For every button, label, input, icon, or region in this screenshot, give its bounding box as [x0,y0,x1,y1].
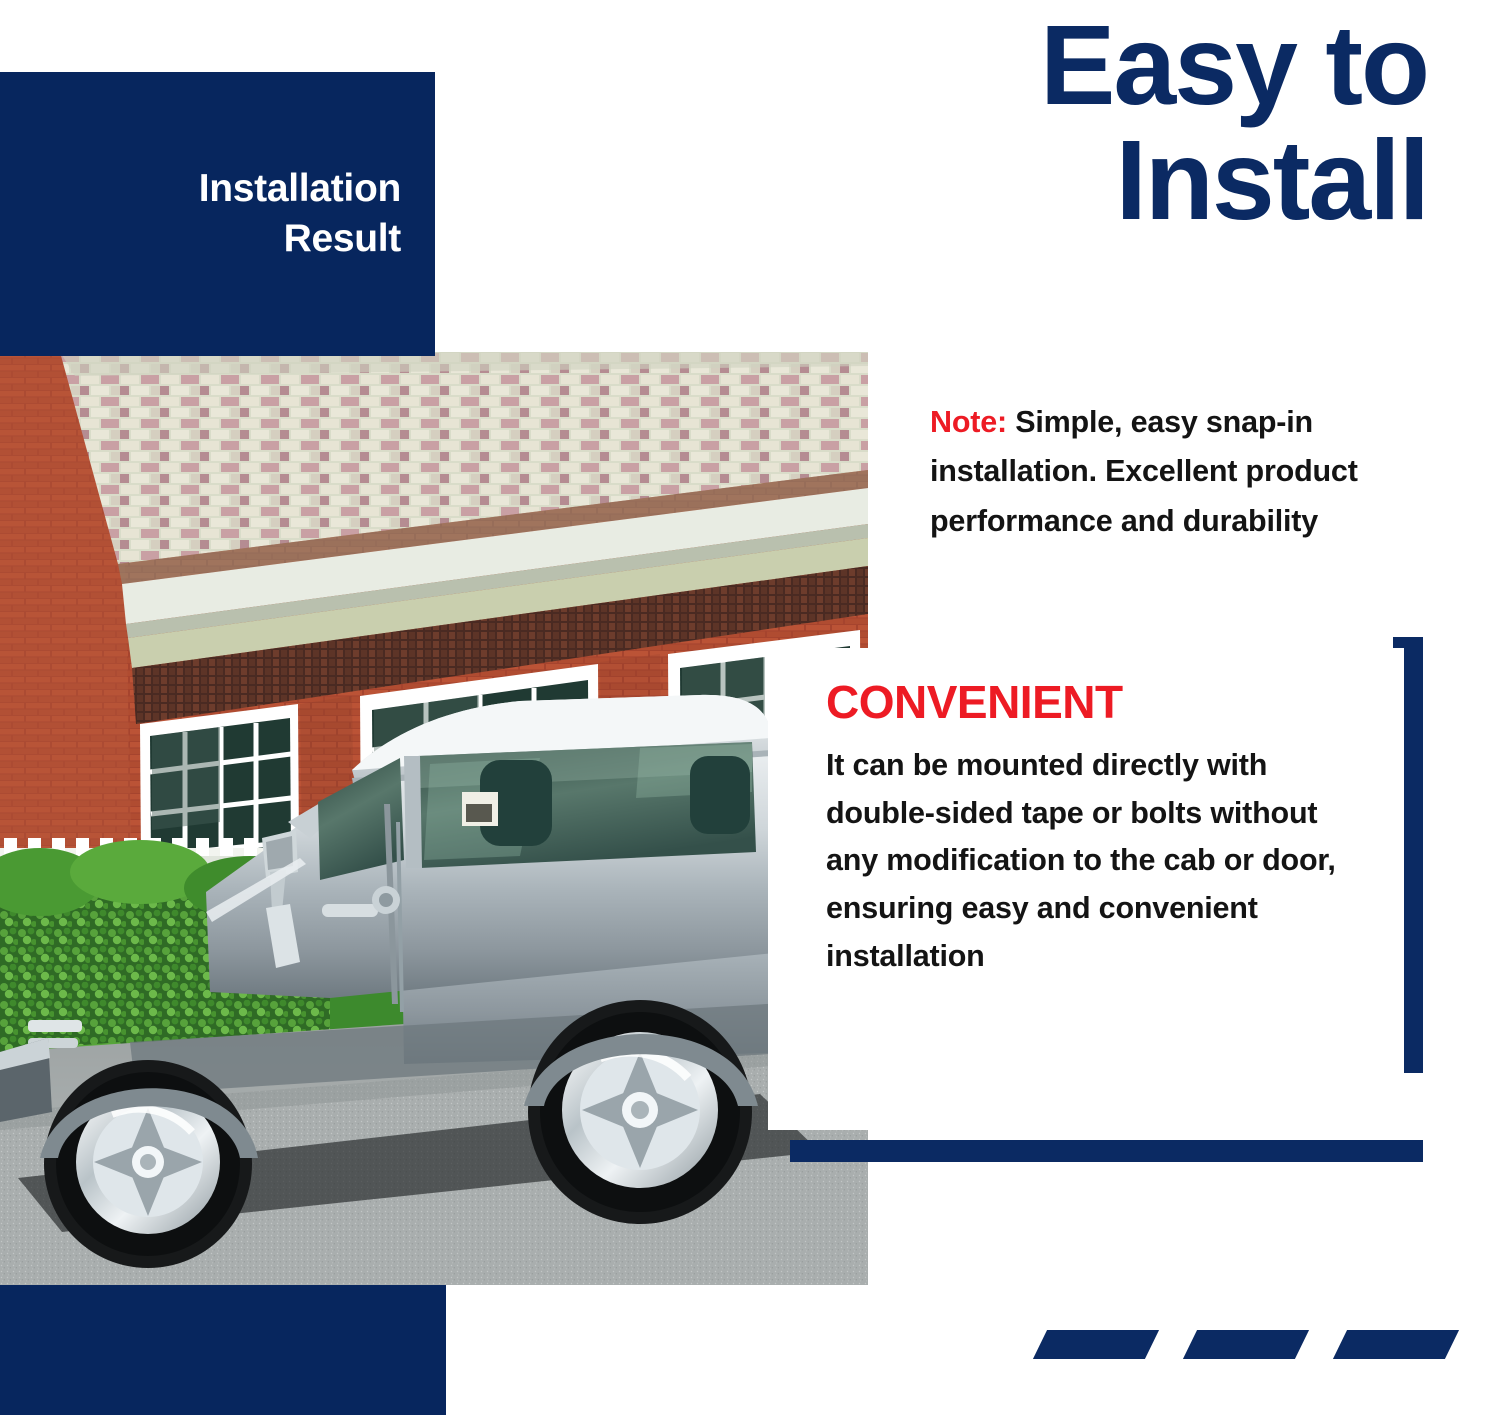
bottom-left-navy-block [0,1285,446,1415]
page-title: Easy to Install [788,8,1428,239]
installation-result-line1: Installation [0,164,401,214]
navy-skew-stripe-2 [1183,1330,1309,1359]
photo-illustration [0,352,868,1285]
navy-skew-stripe-1 [1033,1330,1159,1359]
headline-line1: Easy to [1040,2,1428,128]
note-keyword: Note: [930,405,1007,439]
frame-bottom-bar [790,1140,1423,1162]
convenient-card: CONVENIENT It can be mounted directly wi… [768,648,1404,1130]
decor-stripes [1040,1330,1452,1359]
headline-line2: Install [788,123,1428,238]
infographic-canvas: Installation Result Easy to Install Note… [0,0,1500,1415]
installation-result-label: Installation Result [0,72,435,356]
convenient-body: It can be mounted directly with double-s… [826,742,1364,980]
installation-result-line2: Result [0,214,401,264]
note-paragraph: Note: Simple, easy snap-in installation.… [930,398,1470,546]
navy-skew-stripe-3 [1333,1330,1459,1359]
convenient-title: CONVENIENT [826,678,1364,726]
installation-result-photo [0,352,868,1285]
